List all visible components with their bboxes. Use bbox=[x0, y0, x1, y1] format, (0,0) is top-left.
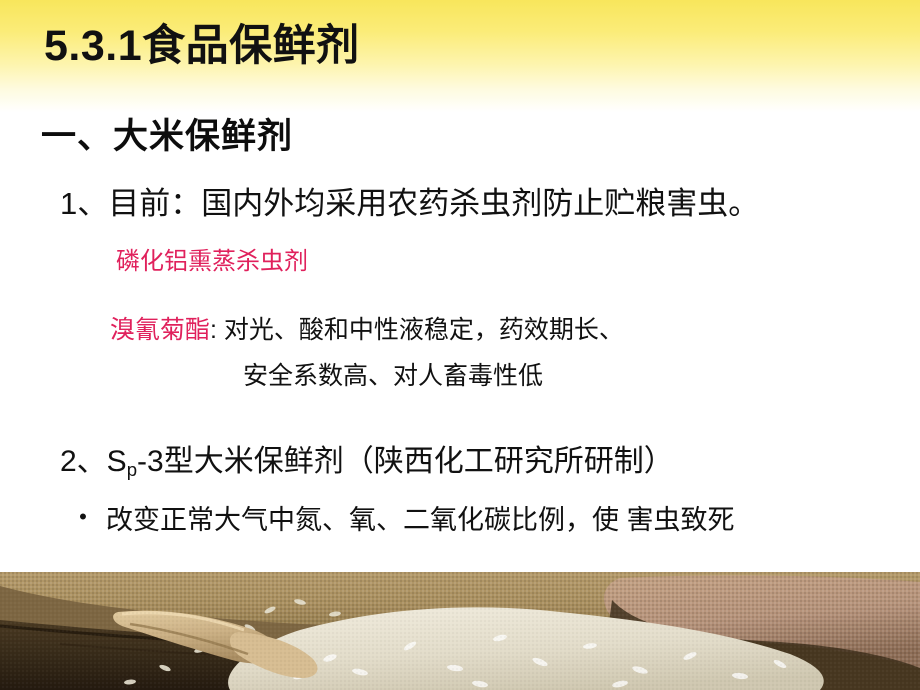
bullet-dot-icon: • bbox=[60, 503, 106, 531]
highlighted-term-aluminium-phosphide: 磷化铝熏蒸杀虫剂 bbox=[116, 241, 308, 276]
deltamethrin-description-line-2: 安全系数高、对人畜毒性低 bbox=[243, 356, 543, 392]
rice-sack-photo bbox=[0, 572, 920, 690]
list-item-2-rest: -3型大米保鲜剂（陕西化工研究所研制） bbox=[137, 445, 674, 478]
highlighted-term-deltamethrin: 溴氰菊酯 bbox=[110, 316, 210, 344]
bullet-list-item-text: 改变正常大气中氮、氧、二氧化碳比例，使 害虫致死 bbox=[106, 505, 735, 535]
list-item-2-subscript: p bbox=[127, 459, 137, 480]
bullet-list-item: •改变正常大气中氮、氧、二氧化碳比例，使 害虫致死 bbox=[60, 503, 890, 538]
highlighted-term-deltamethrin-row: 溴氰菊酯: 对光、酸和中性液稳定，药效期长、 bbox=[110, 310, 624, 346]
presentation-slide: 5.3.1食品保鲜剂 一、大米保鲜剂 1、目前：国内外均采用农药杀虫剂防止贮粮害… bbox=[0, 0, 920, 690]
deltamethrin-description-line-1: : 对光、酸和中性液稳定，药效期长、 bbox=[210, 316, 624, 344]
list-item-1: 1、目前：国内外均采用农药杀虫剂防止贮粮害虫。 bbox=[60, 178, 759, 223]
list-item-2-prefix: 2、S bbox=[60, 445, 127, 478]
section-heading: 一、大米保鲜剂 bbox=[41, 108, 293, 159]
rice-sack-illustration bbox=[0, 572, 920, 690]
list-item-2: 2、Sp-3型大米保鲜剂（陕西化工研究所研制） bbox=[60, 436, 674, 480]
page-title: 5.3.1食品保鲜剂 bbox=[44, 24, 360, 69]
